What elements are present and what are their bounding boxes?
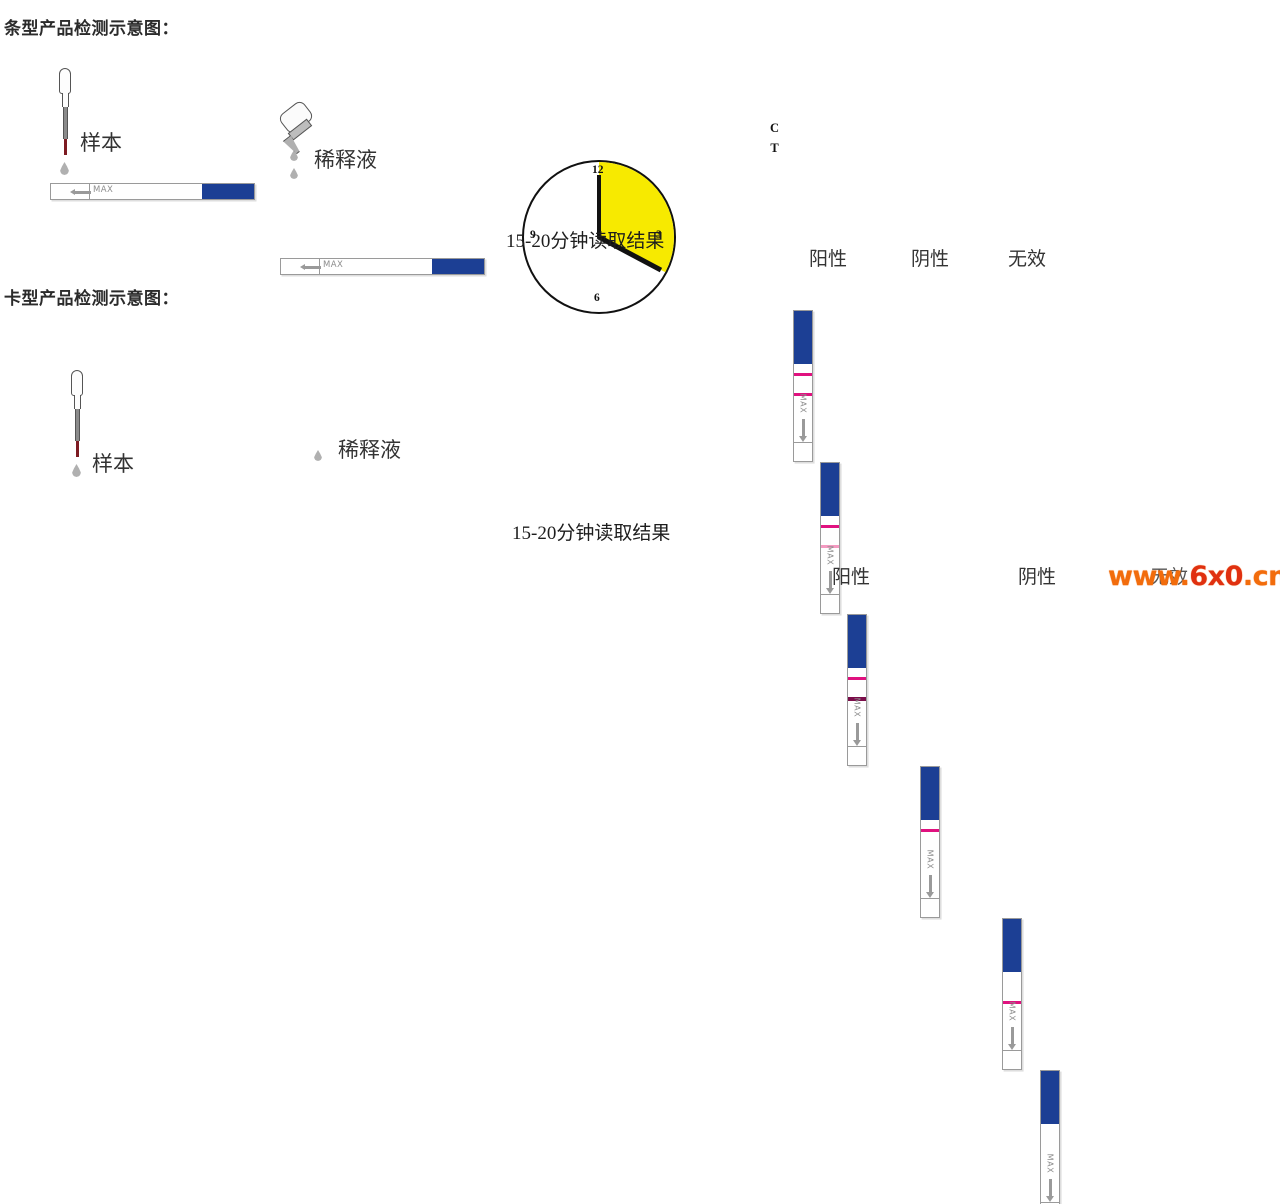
pipette-stem — [75, 409, 80, 441]
clock-tick-6: 6 — [594, 292, 600, 304]
strip-blue-handle — [848, 615, 866, 668]
pipette-liquid — [76, 441, 79, 457]
strip-diluent-application: MAX — [280, 258, 485, 275]
watermark: www.6x0.cn — [1108, 561, 1280, 592]
max-label: MAX — [323, 260, 343, 270]
strip-ct-legend: C T — [770, 118, 779, 158]
max-arrow-icon — [856, 723, 859, 740]
strip-divider — [1003, 1050, 1021, 1051]
strip-positive-3: MAX — [847, 614, 867, 766]
diluent-label: 稀释液 — [338, 434, 401, 464]
sample-label: 样本 — [92, 448, 134, 478]
band-c — [794, 373, 812, 376]
strip-blue-handle — [1003, 919, 1021, 972]
pipette-bulb — [59, 68, 71, 94]
diluent-drop-icon — [290, 168, 298, 179]
sample-drop-icon — [60, 162, 69, 175]
strip-positive-1: MAX — [793, 310, 813, 462]
watermark-highlight: 6x0 — [1189, 561, 1243, 592]
diluent-drop-icon — [314, 450, 322, 461]
strip-divider — [794, 442, 812, 443]
strip-result-negative-label: 阴性 — [911, 244, 949, 271]
read-time-caption: 15-20分钟读取结果 — [512, 518, 670, 545]
max-label: MAX — [926, 850, 935, 870]
max-arrow-icon — [75, 191, 91, 194]
max-arrow-icon — [305, 266, 321, 269]
pipette-bulb — [71, 370, 83, 396]
max-arrow-icon — [1049, 1179, 1052, 1196]
strip-blue-handle — [202, 184, 254, 199]
card-result-negative-label: 阴性 — [1018, 562, 1056, 589]
strip-invalid-1: MAX — [1002, 918, 1022, 1070]
pipette-stem — [63, 107, 68, 139]
ct-legend-t: T — [770, 138, 779, 158]
strip-negative-1: MAX — [920, 766, 940, 918]
strip-positive-2: MAX — [820, 462, 840, 614]
max-label: MAX — [1046, 1154, 1055, 1174]
pipette-liquid — [64, 139, 67, 155]
strip-section-title: 条型产品检测示意图： — [4, 14, 179, 39]
strip-result-invalid-label: 无效 — [1008, 244, 1046, 271]
strip-result-positive-label: 阳性 — [809, 244, 847, 271]
strip-divider — [1041, 1202, 1059, 1203]
strip-blue-handle — [1041, 1071, 1059, 1124]
band-c — [848, 677, 866, 680]
sample-pipette — [58, 68, 72, 155]
strip-invalid-2: MAX — [1040, 1070, 1060, 1204]
strip-blue-handle — [794, 311, 812, 364]
strip-divider — [821, 594, 839, 595]
ct-legend-c: C — [770, 118, 779, 138]
card-result-positive-label: 阳性 — [832, 562, 870, 589]
sample-pipette — [70, 370, 84, 457]
max-label: MAX — [93, 185, 113, 195]
card-section-title: 卡型产品检测示意图： — [4, 284, 179, 309]
max-label: MAX — [853, 698, 862, 718]
max-arrow-icon — [1011, 1027, 1014, 1044]
max-arrow-icon — [929, 875, 932, 892]
watermark-prefix: www. — [1108, 561, 1189, 592]
strip-blue-handle — [432, 259, 484, 274]
band-c — [921, 829, 939, 832]
sample-drop-icon — [72, 464, 81, 477]
strip-divider — [921, 898, 939, 899]
strip-blue-handle — [821, 463, 839, 516]
max-arrow-icon — [802, 419, 805, 436]
sample-label: 样本 — [80, 127, 122, 157]
max-label: MAX — [799, 394, 808, 414]
strip-sample-application: MAX — [50, 183, 255, 200]
watermark-suffix: .cn — [1243, 561, 1280, 592]
read-time-caption: 15-20分钟读取结果 — [506, 226, 664, 253]
pipette-neck — [62, 93, 69, 107]
pipette-neck — [74, 395, 81, 409]
band-c — [821, 525, 839, 528]
clock-tick-12: 12 — [592, 164, 604, 176]
diluent-label: 稀释液 — [314, 144, 377, 174]
max-label: MAX — [1008, 1002, 1017, 1022]
strip-blue-handle — [921, 767, 939, 820]
strip-divider — [848, 746, 866, 747]
